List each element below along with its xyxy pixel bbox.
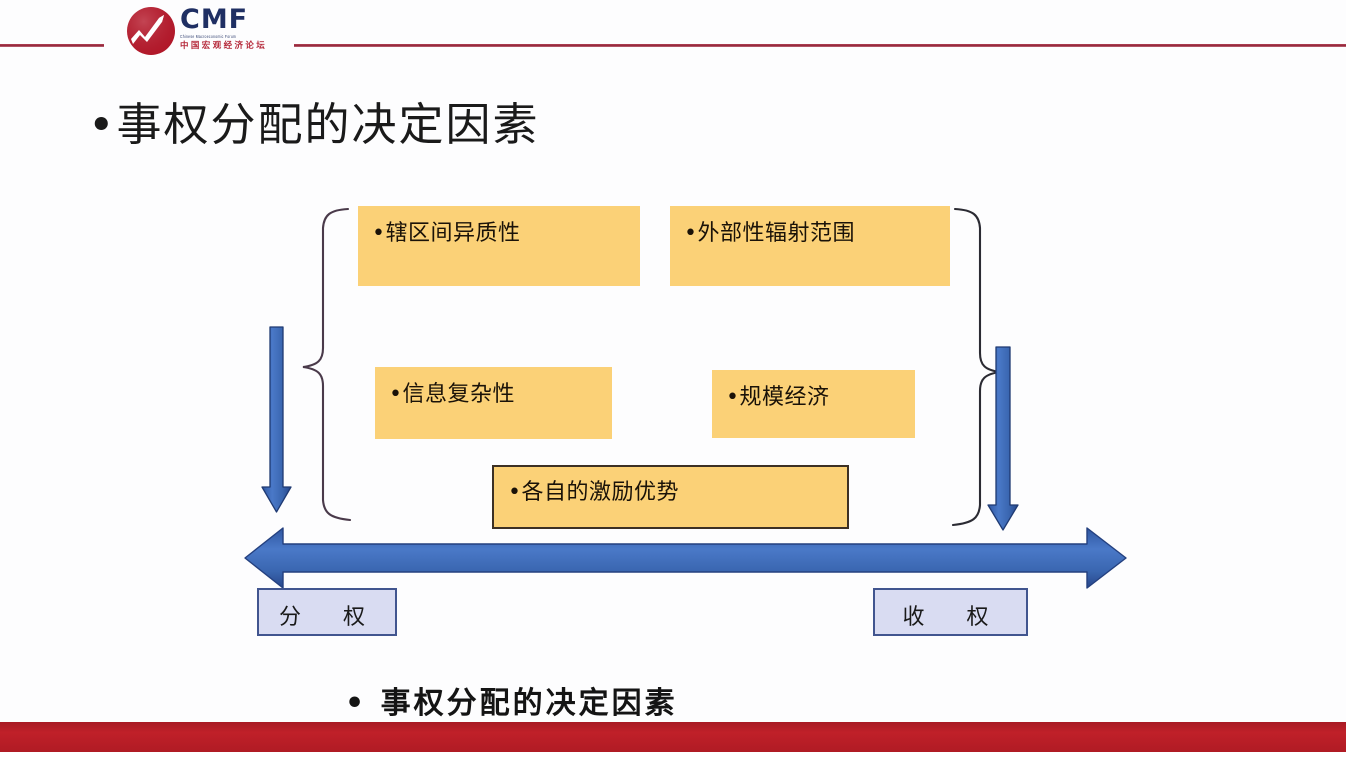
slide-canvas: CMF Chinese Macroeconomic Forum 中国宏观经济论坛… (0, 0, 1346, 760)
endpoint-label-centralization[interactable]: 收 权 (873, 588, 1028, 636)
factor-box-information-complexity[interactable]: •信息复杂性 (375, 367, 612, 439)
cmf-mark-icon (126, 6, 176, 56)
double-headed-horizontal-arrow-icon (245, 528, 1126, 588)
slide-caption: • 事权分配的决定因素 (345, 678, 678, 722)
cmf-wordmark: CMF Chinese Macroeconomic Forum 中国宏观经济论坛 (180, 5, 292, 51)
endpoint-label-decentralization[interactable]: 分 权 (257, 588, 397, 636)
cmf-logo: CMF Chinese Macroeconomic Forum 中国宏观经济论坛 (104, 0, 294, 62)
cmf-subtitle-cn: 中国宏观经济论坛 (180, 39, 292, 51)
right-curly-brace-icon (953, 209, 1000, 525)
left-curly-brace-icon (303, 209, 350, 520)
footer-shadow (0, 752, 1346, 760)
cmf-wordmark-text: CMF (180, 5, 292, 34)
footer-bar (0, 722, 1346, 752)
diagram-vectors (0, 0, 1346, 760)
factor-box-economies-of-scale[interactable]: •规模经济 (712, 370, 915, 438)
factor-box-incentive-advantage[interactable]: •各自的激励优势 (492, 465, 849, 529)
down-arrow-decentralize-icon (262, 327, 291, 512)
factor-box-externality-range[interactable]: •外部性辐射范围 (670, 206, 950, 286)
factor-box-heterogeneity[interactable]: •辖区间异质性 (358, 206, 640, 286)
